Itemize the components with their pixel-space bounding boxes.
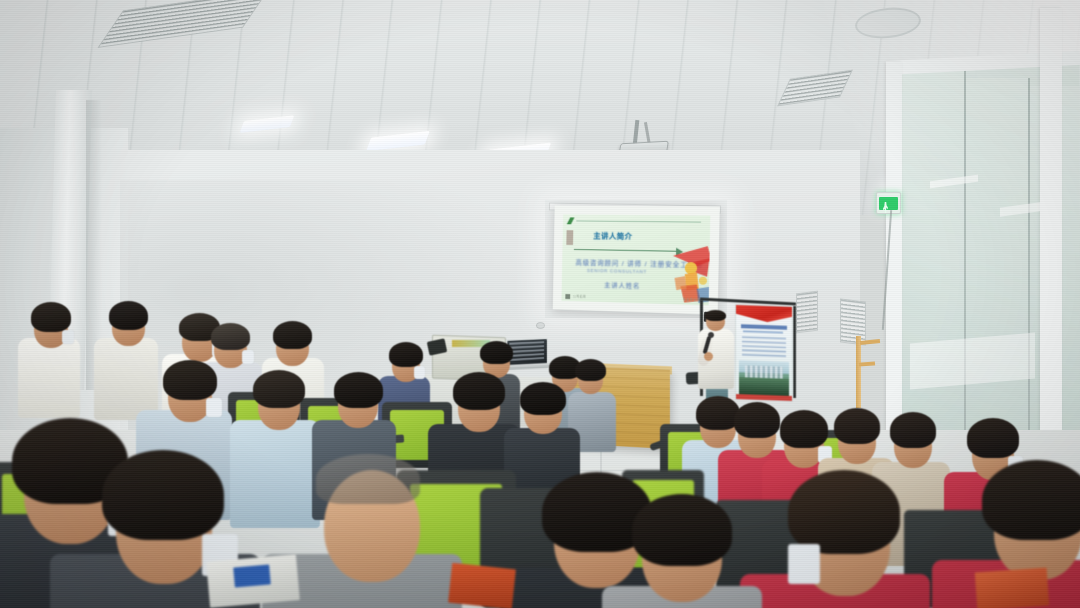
slide-accent-tab bbox=[566, 230, 573, 245]
banner-subtitle-text bbox=[743, 330, 783, 333]
attendee-torso bbox=[18, 338, 80, 418]
presentation-slide: 主讲人简介 高级咨询顾问 / 讲师 / 注册安全工程师 SENIOR CONSU… bbox=[561, 214, 710, 305]
slide-arrow-line bbox=[574, 249, 678, 252]
projection-screen: 主讲人简介 高级咨询顾问 / 讲师 / 注册安全工程师 SENIOR CONSU… bbox=[553, 206, 720, 315]
coat-rack bbox=[856, 336, 861, 408]
slide-header-rule bbox=[576, 220, 701, 222]
slide-title: 主讲人简介 bbox=[593, 230, 632, 241]
attendee-torso bbox=[94, 338, 158, 420]
attendee-hair bbox=[780, 410, 828, 448]
attendee-hair bbox=[890, 412, 936, 448]
banner-photo-foliage bbox=[739, 377, 789, 396]
banner-header-graphic bbox=[736, 305, 792, 323]
conference-room-photo: 主讲人简介 高级咨询顾问 / 讲师 / 注册安全工程师 SENIOR CONSU… bbox=[0, 0, 1080, 608]
roll-up-banner bbox=[735, 304, 793, 402]
attendee-hair bbox=[520, 382, 566, 415]
attendee-hair bbox=[109, 301, 148, 330]
coat-rack-arm bbox=[860, 339, 880, 345]
slide-subtitle-2: SENIOR CONSULTANT bbox=[587, 268, 647, 274]
attendee-hair bbox=[632, 494, 732, 566]
notebook[interactable] bbox=[448, 563, 516, 608]
attendee-hair bbox=[982, 460, 1080, 540]
slide-illustration-icon bbox=[666, 241, 710, 305]
presenter-hair bbox=[705, 310, 726, 321]
banner-title-text bbox=[741, 324, 787, 330]
attendee-torso bbox=[230, 420, 320, 528]
slide-subtitle-3: 主讲人姓名 bbox=[604, 280, 640, 290]
face-mask-icon bbox=[414, 366, 425, 379]
slide-footer-logo-icon bbox=[565, 294, 570, 299]
exit-sign-icon bbox=[876, 192, 901, 214]
slide-header bbox=[567, 217, 705, 225]
banner-body-text bbox=[742, 336, 786, 360]
attendee-hair bbox=[253, 370, 305, 408]
face-mask-icon bbox=[788, 544, 820, 584]
attendee-hair bbox=[788, 470, 900, 554]
attendee-hair bbox=[734, 402, 780, 438]
face-mask-icon bbox=[242, 350, 254, 364]
attendee-hair bbox=[967, 418, 1019, 458]
wall-vent-icon bbox=[796, 291, 818, 334]
attendee-hair bbox=[102, 450, 224, 540]
attendee-hair bbox=[273, 321, 312, 349]
attendee-hair bbox=[389, 342, 423, 367]
attendee-hair bbox=[453, 372, 505, 410]
slide-footer-left-text: 公司名称 bbox=[573, 294, 586, 298]
attendee-hair bbox=[834, 408, 880, 444]
microphone-head-icon bbox=[708, 332, 714, 338]
attendee-hair bbox=[480, 341, 513, 364]
notebook[interactable] bbox=[975, 568, 1049, 608]
banner-stand-pole bbox=[793, 306, 796, 398]
face-mask-icon bbox=[62, 330, 74, 344]
slide-logo-icon bbox=[567, 217, 575, 224]
laptop-screen-content bbox=[509, 341, 544, 363]
face-mask-icon bbox=[206, 398, 222, 417]
coat-rack-arm bbox=[859, 361, 875, 366]
attendee-hair bbox=[31, 302, 71, 332]
wall-vent-icon bbox=[840, 298, 866, 345]
notebook-cover-label bbox=[233, 564, 271, 587]
attendee-hair bbox=[316, 454, 420, 504]
exit-sign-face bbox=[879, 197, 898, 210]
attendee-hair bbox=[334, 372, 383, 408]
banner-footer-bar bbox=[736, 394, 792, 401]
attendee-hair bbox=[211, 323, 250, 350]
smoke-detector-icon bbox=[536, 322, 545, 329]
banner-photo bbox=[739, 360, 789, 396]
attendee-hair bbox=[575, 359, 606, 381]
running-man-icon bbox=[883, 202, 888, 213]
attendee-hair bbox=[163, 360, 217, 400]
presenter-hand bbox=[704, 352, 713, 361]
